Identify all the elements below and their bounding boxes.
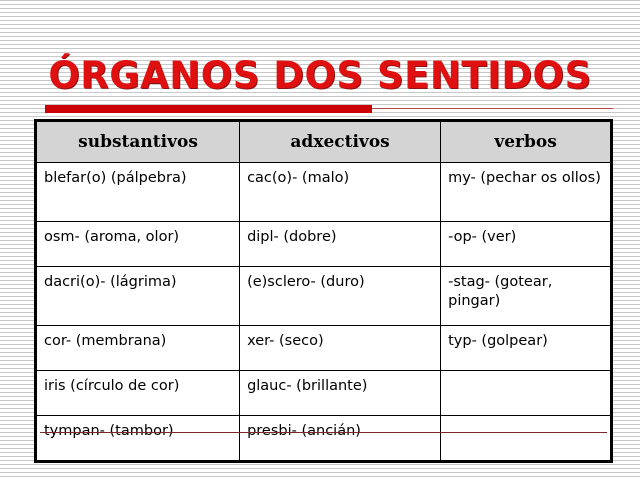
page-title: ÓRGANOS DOS SENTIDOS — [0, 54, 640, 98]
title-rule-thin-segment — [372, 108, 613, 109]
table-row: osm- (aroma, olor) dipl- (dobre) -op- (v… — [36, 222, 612, 267]
table-cell-adxectivos: presbi- (ancián) — [240, 416, 441, 462]
table-row: blefar(o) (pálpebra) cac(o)- (malo) my- … — [36, 163, 612, 222]
table-cell-substantivos: osm- (aroma, olor) — [36, 222, 240, 267]
table-cell-adxectivos: dipl- (dobre) — [240, 222, 441, 267]
table-row: iris (círculo de cor) glauc- (brillante) — [36, 371, 612, 416]
table-bottom-accent-line — [40, 432, 607, 433]
table-row: tympan- (tambor) presbi- (ancián) — [36, 416, 612, 462]
table-cell-substantivos: tympan- (tambor) — [36, 416, 240, 462]
column-header-verbos: verbos — [441, 121, 612, 163]
table-cell-substantivos: cor- (membrana) — [36, 326, 240, 371]
table-header-row: substantivos adxectivos verbos — [36, 121, 612, 163]
table-cell-verbos — [441, 371, 612, 416]
table-cell-substantivos: iris (círculo de cor) — [36, 371, 240, 416]
table-cell-verbos: -op- (ver) — [441, 222, 612, 267]
table-cell-adxectivos: glauc- (brillante) — [240, 371, 441, 416]
table-cell-verbos: typ- (golpear) — [441, 326, 612, 371]
column-header-substantivos: substantivos — [36, 121, 240, 163]
title-underline-rule — [45, 105, 613, 113]
column-header-adxectivos: adxectivos — [240, 121, 441, 163]
table-cell-verbos: my- (pechar os ollos) — [441, 163, 612, 222]
table-cell-adxectivos: (e)sclero- (duro) — [240, 267, 441, 326]
table-cell-adxectivos: cac(o)- (malo) — [240, 163, 441, 222]
table-cell-substantivos: blefar(o) (pálpebra) — [36, 163, 240, 222]
table-cell-verbos: -stag- (gotear, pingar) — [441, 267, 612, 326]
table-cell-substantivos: dacri(o)- (lágrima) — [36, 267, 240, 326]
table-cell-adxectivos: xer- (seco) — [240, 326, 441, 371]
title-rule-thick-segment — [45, 105, 372, 113]
terms-table: substantivos adxectivos verbos blefar(o)… — [34, 119, 613, 463]
table-row: cor- (membrana) xer- (seco) typ- (golpea… — [36, 326, 612, 371]
table-cell-verbos — [441, 416, 612, 462]
table-row: dacri(o)- (lágrima) (e)sclero- (duro) -s… — [36, 267, 612, 326]
